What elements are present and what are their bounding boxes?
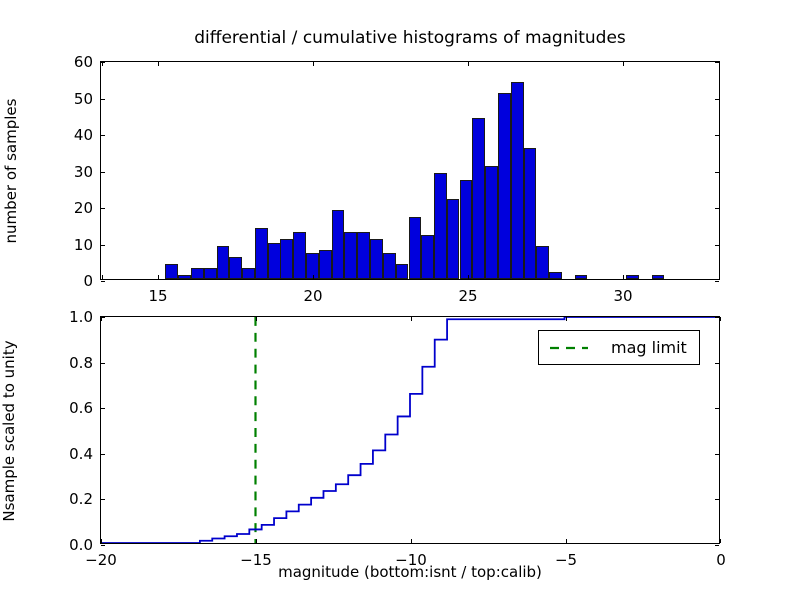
x-tick-mark bbox=[468, 62, 469, 66]
histogram-bar bbox=[498, 93, 511, 279]
top-panel-y-tick-label: 50 bbox=[51, 90, 93, 108]
histogram-bar bbox=[626, 275, 639, 279]
histogram-bar bbox=[268, 243, 281, 280]
x-tick-mark bbox=[720, 539, 721, 543]
histogram-bar bbox=[396, 264, 409, 279]
x-tick-mark bbox=[102, 275, 103, 279]
figure-canvas: differential / cumulative histograms of … bbox=[0, 0, 800, 600]
x-tick-mark bbox=[313, 62, 314, 66]
y-tick-mark bbox=[715, 208, 719, 209]
histogram-bar bbox=[383, 253, 396, 279]
bottom-panel-ylabel: Nsample scaled to unity bbox=[0, 316, 18, 546]
y-tick-mark bbox=[101, 245, 105, 246]
legend-label: mag limit bbox=[611, 338, 687, 357]
histogram-bar bbox=[332, 210, 345, 279]
histogram-bar bbox=[652, 275, 665, 279]
y-tick-mark bbox=[715, 454, 719, 455]
x-tick-mark bbox=[566, 539, 567, 543]
bottom-panel-y-tick-label: 0.6 bbox=[43, 399, 93, 417]
top-panel-x-tick-label: 30 bbox=[613, 287, 632, 305]
histogram-bar bbox=[511, 82, 524, 279]
histogram-bar bbox=[178, 275, 191, 279]
y-tick-mark bbox=[715, 245, 719, 246]
histogram-bar bbox=[434, 173, 447, 279]
top-panel-y-tick-label: 20 bbox=[51, 199, 93, 217]
y-tick-mark bbox=[101, 363, 105, 364]
top-panel-x-tick-label: 20 bbox=[303, 287, 322, 305]
histogram-bar bbox=[319, 250, 332, 279]
x-tick-mark bbox=[101, 317, 102, 321]
top-panel-y-tick-label: 40 bbox=[51, 126, 93, 144]
bottom-panel-axes: Nsample scaled to unity mag limit 0.00.2… bbox=[100, 316, 720, 544]
top-panel-y-tick-label: 30 bbox=[51, 163, 93, 181]
histogram-bar bbox=[204, 268, 217, 279]
histogram-bar bbox=[460, 180, 473, 279]
y-tick-mark bbox=[715, 499, 719, 500]
y-tick-mark bbox=[101, 545, 105, 546]
figure-xlabel: magnitude (bottom:isnt / top:calib) bbox=[100, 563, 720, 581]
bottom-panel-y-tick-label: 0.2 bbox=[43, 490, 93, 508]
x-tick-mark bbox=[256, 317, 257, 321]
histogram-bar bbox=[217, 246, 230, 279]
figure-title: differential / cumulative histograms of … bbox=[100, 28, 720, 48]
x-tick-mark bbox=[468, 275, 469, 279]
y-tick-mark bbox=[101, 172, 105, 173]
x-tick-mark bbox=[623, 62, 624, 66]
y-tick-mark bbox=[101, 208, 105, 209]
bottom-panel-y-tick-label: 0.4 bbox=[43, 445, 93, 463]
histogram-bar bbox=[370, 239, 383, 279]
y-tick-mark bbox=[101, 99, 105, 100]
x-tick-mark bbox=[623, 275, 624, 279]
y-tick-mark bbox=[101, 499, 105, 500]
x-tick-mark bbox=[102, 62, 103, 66]
histogram-bar bbox=[549, 272, 562, 279]
y-tick-mark bbox=[715, 317, 719, 318]
top-panel-x-tick-label: 15 bbox=[148, 287, 167, 305]
histogram-bar bbox=[524, 148, 537, 279]
top-panel-ylabel: number of samples bbox=[2, 71, 20, 271]
histogram-bar bbox=[255, 228, 268, 279]
top-panel-axes: number of samples 0102030405060 15202530 bbox=[100, 61, 720, 280]
histogram-bar bbox=[242, 268, 255, 279]
legend-box[interactable]: mag limit bbox=[538, 330, 700, 365]
y-tick-mark bbox=[715, 62, 719, 63]
histogram-plot-area bbox=[101, 62, 719, 279]
x-tick-mark bbox=[411, 317, 412, 321]
y-tick-mark bbox=[715, 363, 719, 364]
y-tick-mark bbox=[715, 408, 719, 409]
x-tick-mark bbox=[411, 539, 412, 543]
top-panel-y-tick-label: 60 bbox=[51, 53, 93, 71]
y-tick-mark bbox=[715, 172, 719, 173]
y-tick-mark bbox=[101, 281, 105, 282]
histogram-bar bbox=[421, 235, 434, 279]
y-tick-mark bbox=[101, 454, 105, 455]
histogram-bar bbox=[485, 166, 498, 279]
x-tick-mark bbox=[720, 317, 721, 321]
histogram-bar bbox=[357, 232, 370, 279]
top-panel-y-tick-label: 0 bbox=[51, 272, 93, 290]
y-tick-mark bbox=[101, 135, 105, 136]
bottom-panel-y-tick-label: 0.8 bbox=[43, 354, 93, 372]
histogram-bar bbox=[165, 264, 178, 279]
y-tick-mark bbox=[715, 99, 719, 100]
histogram-bar bbox=[293, 232, 306, 279]
bottom-panel-y-tick-label: 1.0 bbox=[43, 308, 93, 326]
x-tick-mark bbox=[313, 275, 314, 279]
histogram-bar bbox=[191, 268, 204, 279]
histogram-bar bbox=[536, 246, 549, 279]
x-tick-mark bbox=[158, 275, 159, 279]
y-tick-mark bbox=[715, 545, 719, 546]
histogram-bar bbox=[575, 275, 588, 279]
legend-dashed-line-icon bbox=[549, 341, 589, 355]
y-tick-mark bbox=[101, 408, 105, 409]
x-tick-mark bbox=[566, 317, 567, 321]
histogram-bar bbox=[280, 239, 293, 279]
x-tick-mark bbox=[256, 539, 257, 543]
histogram-bar bbox=[344, 232, 357, 279]
y-tick-mark bbox=[715, 281, 719, 282]
x-tick-mark bbox=[158, 62, 159, 66]
x-tick-mark bbox=[101, 539, 102, 543]
histogram-bar bbox=[229, 257, 242, 279]
histogram-bar bbox=[472, 118, 485, 279]
top-panel-y-tick-label: 10 bbox=[51, 236, 93, 254]
top-panel-x-tick-label: 25 bbox=[458, 287, 477, 305]
histogram-bar bbox=[447, 199, 460, 279]
histogram-bar bbox=[409, 217, 422, 279]
y-tick-mark bbox=[715, 135, 719, 136]
